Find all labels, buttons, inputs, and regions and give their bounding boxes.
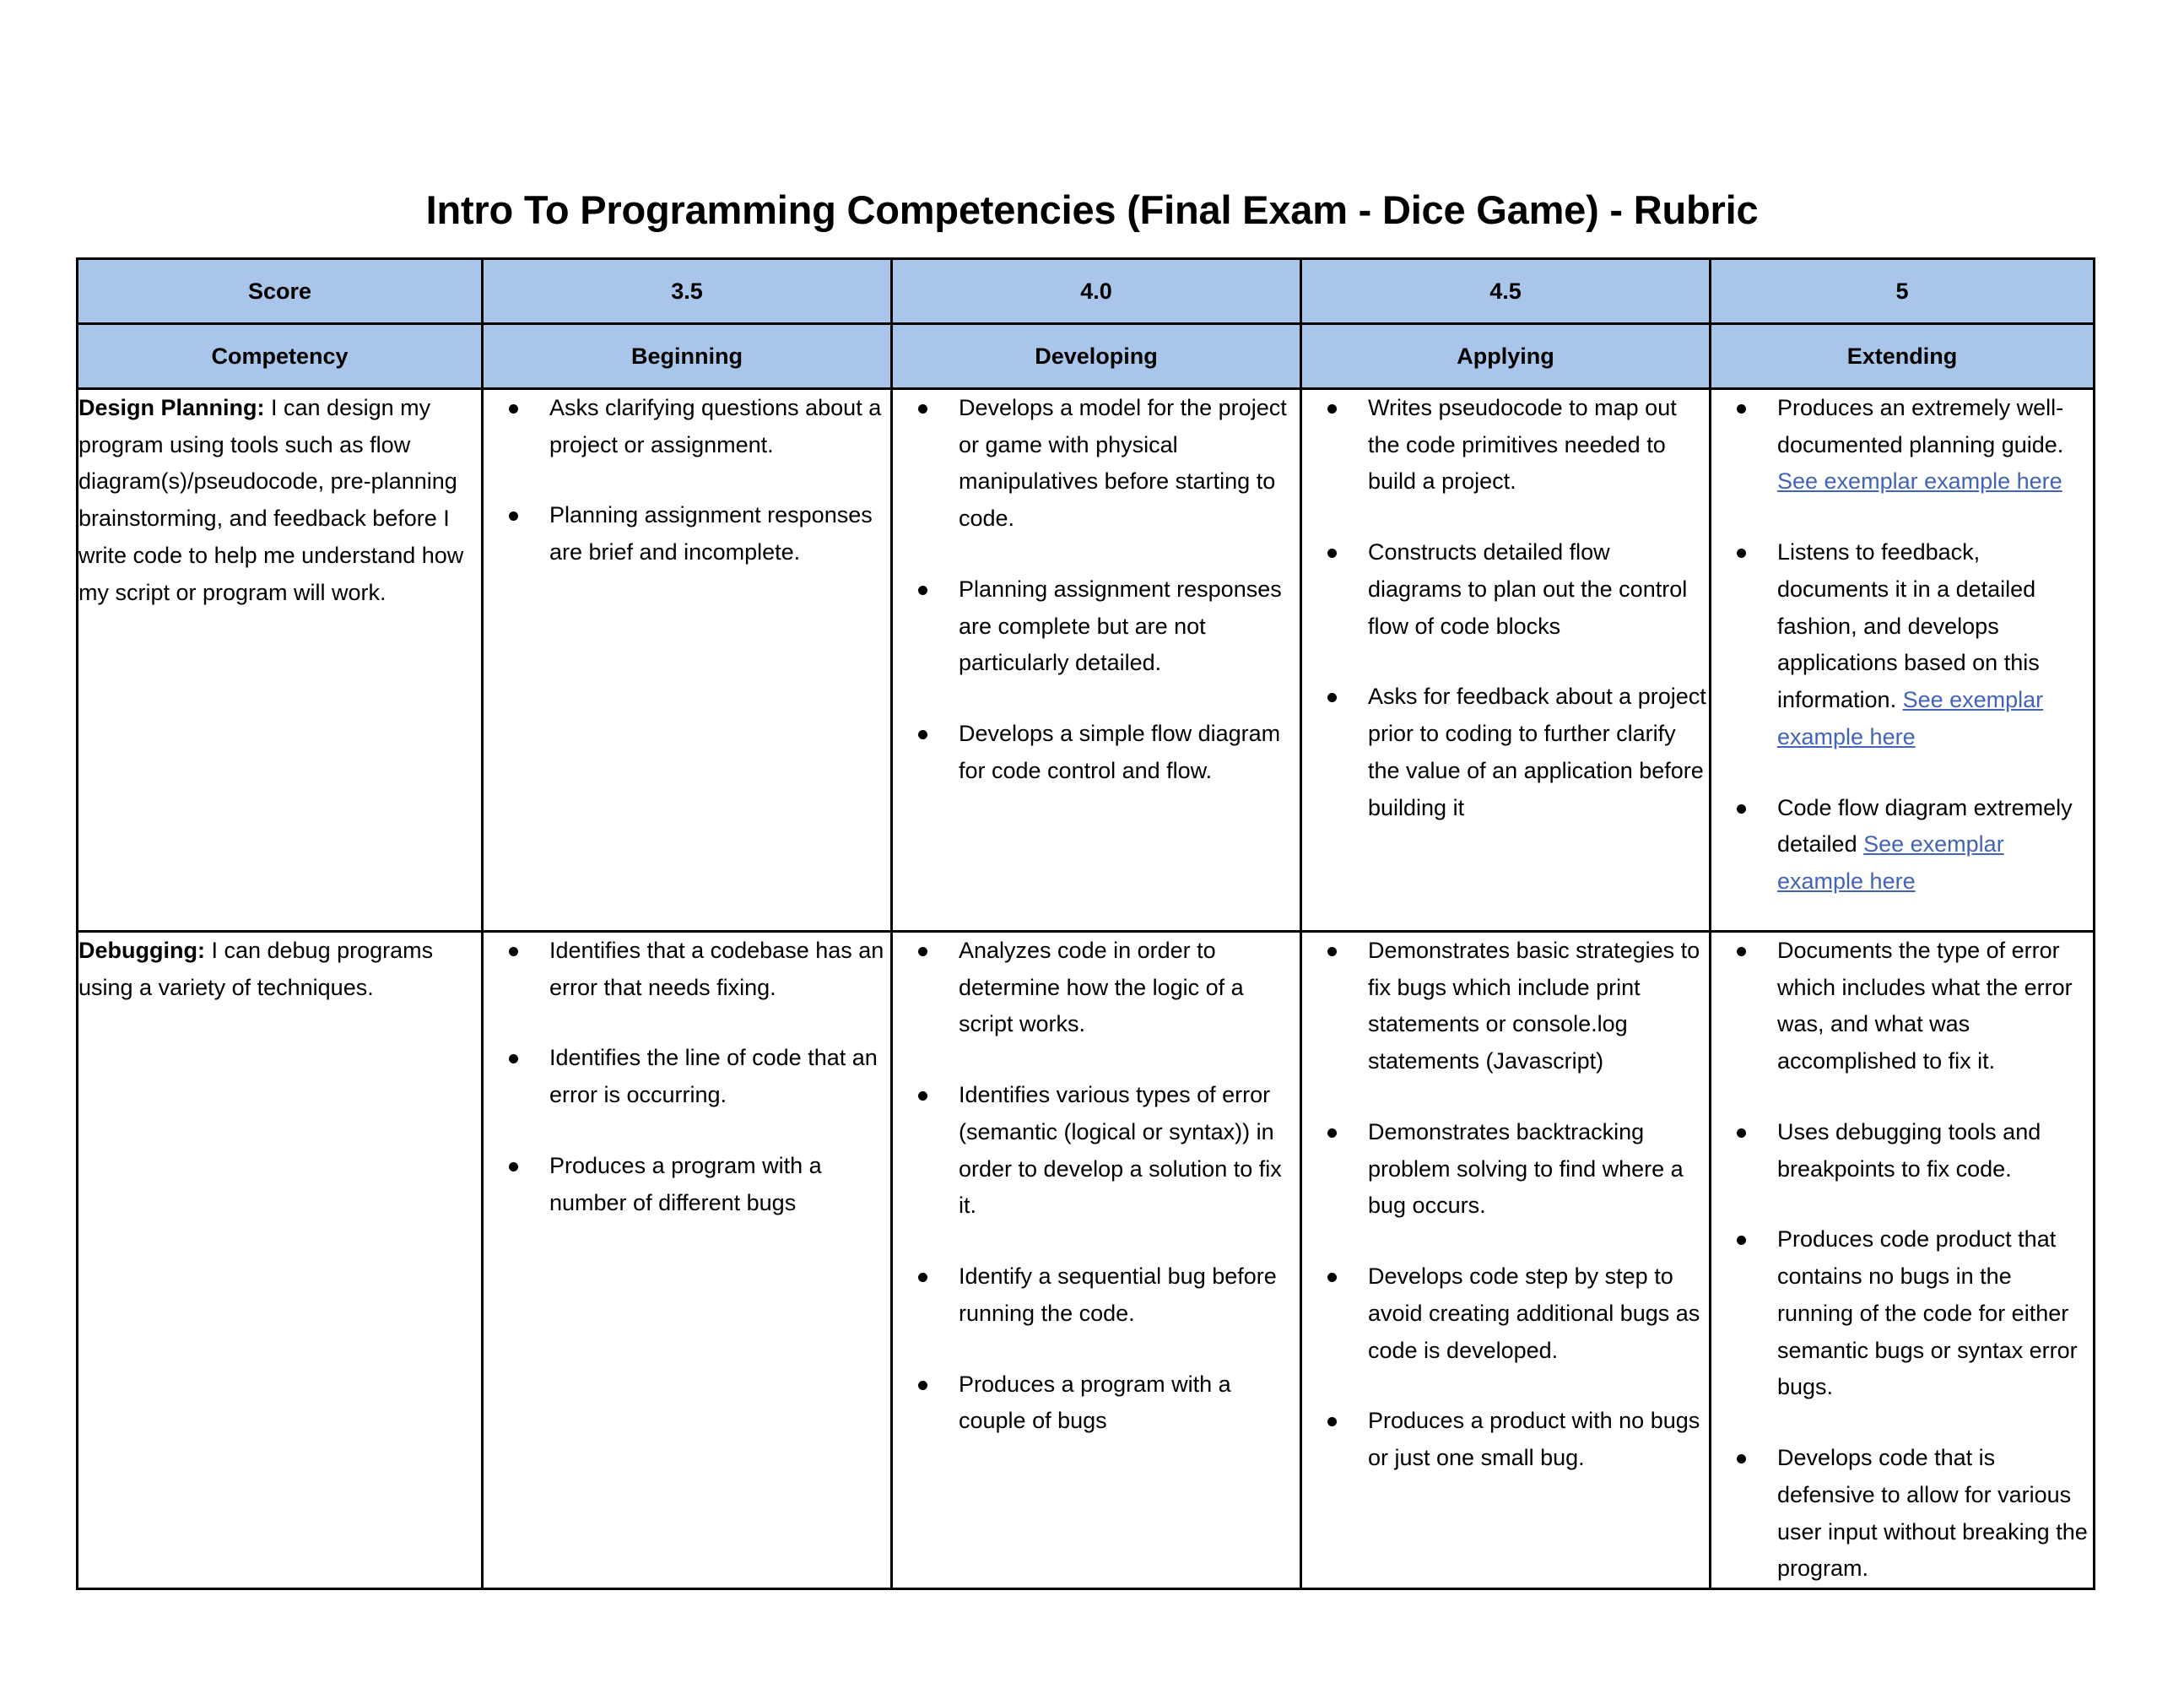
competency-name: Design Planning: — [78, 395, 265, 420]
criteria-text: Produces code product that contains no b… — [1777, 1226, 2078, 1399]
criteria-list: Produces an extremely well-documented pl… — [1711, 390, 2093, 901]
criteria-item: Listens to feedback, documents it in a d… — [1711, 534, 2093, 755]
criteria-item: Produces an extremely well-documented pl… — [1711, 390, 2093, 500]
competency-header-label: Competency — [78, 324, 483, 389]
competency-cell-debugging: Debugging: I can debug programs using a … — [78, 932, 483, 1589]
criteria-list: Develops a model for the project or game… — [893, 390, 1300, 790]
criteria-item: Identifies that a codebase has an error … — [484, 933, 890, 1006]
rubric-table-container: Score 3.5 4.0 4.5 5 Competency Beginning… — [76, 257, 2093, 1590]
criteria-item: Produces a program with a couple of bugs — [893, 1366, 1300, 1440]
competency-cell-design-planning: Design Planning: I can design my program… — [78, 389, 483, 932]
criteria-item: Code flow diagram extremely detailed See… — [1711, 790, 2093, 901]
level-cell-debug-applying: Demonstrates basic strategies to fix bug… — [1301, 932, 1711, 1589]
page-title: Intro To Programming Competencies (Final… — [0, 187, 2184, 233]
criteria-text: Asks for feedback about a project prior … — [1368, 684, 1706, 820]
criteria-text: Identifies the line of code that an erro… — [549, 1045, 878, 1107]
level-cell-design-beginning: Asks clarifying questions about a projec… — [483, 389, 892, 932]
criteria-text: Develops code that is defensive to allow… — [1777, 1445, 2088, 1581]
criteria-text: Demonstrates backtracking problem solvin… — [1368, 1119, 1684, 1218]
criteria-item: Uses debugging tools and breakpoints to … — [1711, 1114, 2093, 1188]
score-header-label: Score — [78, 259, 483, 324]
score-header-4-5: 4.5 — [1301, 259, 1711, 324]
exemplar-example-link[interactable]: See exemplar example here — [1777, 468, 2062, 494]
criteria-text: Produces an extremely well-documented pl… — [1777, 395, 2063, 457]
level-header-developing: Developing — [892, 324, 1301, 389]
score-header-row: Score 3.5 4.0 4.5 5 — [78, 259, 2095, 324]
competency-name: Debugging: — [78, 938, 205, 963]
competency-description: I can design my program using tools such… — [78, 395, 463, 605]
criteria-text: Uses debugging tools and breakpoints to … — [1777, 1119, 2041, 1182]
criteria-text: Identifies that a codebase has an error … — [549, 938, 884, 1000]
criteria-text: Analyzes code in order to determine how … — [959, 938, 1244, 1036]
criteria-item: Produces a product with no bugs or just … — [1302, 1403, 1709, 1476]
level-cell-debug-beginning: Identifies that a codebase has an error … — [483, 932, 892, 1589]
rubric-page: Intro To Programming Competencies (Final… — [0, 0, 2184, 1688]
criteria-text: Develops a simple flow diagram for code … — [959, 721, 1280, 783]
level-cell-design-applying: Writes pseudocode to map out the code pr… — [1301, 389, 1711, 932]
criteria-text: Planning assignment responses are comple… — [959, 576, 1282, 675]
table-row: Debugging: I can debug programs using a … — [78, 932, 2095, 1589]
criteria-text: Identify a sequential bug before running… — [959, 1263, 1277, 1326]
competency-header-row: Competency Beginning Developing Applying… — [78, 324, 2095, 389]
criteria-text: Constructs detailed flow diagrams to pla… — [1368, 539, 1687, 638]
level-header-beginning: Beginning — [483, 324, 892, 389]
level-cell-design-developing: Develops a model for the project or game… — [892, 389, 1301, 932]
criteria-item: Develops a model for the project or game… — [893, 390, 1300, 538]
criteria-list: Asks clarifying questions about a projec… — [484, 390, 890, 571]
level-header-applying: Applying — [1301, 324, 1711, 389]
level-cell-design-extending: Produces an extremely well-documented pl… — [1711, 389, 2095, 932]
criteria-item: Develops a simple flow diagram for code … — [893, 716, 1300, 789]
criteria-text: Planning assignment responses are brief … — [549, 502, 873, 565]
criteria-list: Analyzes code in order to determine how … — [893, 933, 1300, 1440]
table-row: Design Planning: I can design my program… — [78, 389, 2095, 932]
criteria-item: Asks clarifying questions about a projec… — [484, 390, 890, 463]
criteria-text: Identifies various types of error (seman… — [959, 1082, 1282, 1218]
score-header-5: 5 — [1711, 259, 2095, 324]
criteria-item: Develops code step by step to avoid crea… — [1302, 1258, 1709, 1369]
level-cell-debug-developing: Analyzes code in order to determine how … — [892, 932, 1301, 1589]
criteria-item: Produces code product that contains no b… — [1711, 1221, 2093, 1406]
criteria-list: Writes pseudocode to map out the code pr… — [1302, 390, 1709, 826]
criteria-text: Produces a program with a number of diff… — [549, 1153, 822, 1215]
criteria-item: Demonstrates backtracking problem solvin… — [1302, 1114, 1709, 1225]
score-header-3-5: 3.5 — [483, 259, 892, 324]
criteria-text: Develops a model for the project or game… — [959, 395, 1287, 531]
criteria-item: Identifies the line of code that an erro… — [484, 1040, 890, 1113]
criteria-text: Develops code step by step to avoid crea… — [1368, 1263, 1700, 1362]
criteria-list: Identifies that a codebase has an error … — [484, 933, 890, 1221]
criteria-item: Planning assignment responses are brief … — [484, 497, 890, 571]
criteria-item: Identifies various types of error (seman… — [893, 1077, 1300, 1225]
criteria-item: Constructs detailed flow diagrams to pla… — [1302, 534, 1709, 645]
level-header-extending: Extending — [1711, 324, 2095, 389]
criteria-item: Develops code that is defensive to allow… — [1711, 1440, 2093, 1588]
criteria-list: Demonstrates basic strategies to fix bug… — [1302, 933, 1709, 1477]
criteria-text: Writes pseudocode to map out the code pr… — [1368, 395, 1677, 494]
rubric-table: Score 3.5 4.0 4.5 5 Competency Beginning… — [76, 257, 2095, 1590]
criteria-item: Produces a program with a number of diff… — [484, 1148, 890, 1221]
criteria-list: Documents the type of error which includ… — [1711, 933, 2093, 1588]
criteria-item: Planning assignment responses are comple… — [893, 571, 1300, 682]
criteria-item: Documents the type of error which includ… — [1711, 933, 2093, 1080]
criteria-item: Identify a sequential bug before running… — [893, 1258, 1300, 1332]
criteria-text: Documents the type of error which includ… — [1777, 938, 2073, 1074]
criteria-text: Produces a product with no bugs or just … — [1368, 1408, 1700, 1470]
criteria-item: Asks for feedback about a project prior … — [1302, 679, 1709, 826]
score-header-4-0: 4.0 — [892, 259, 1301, 324]
criteria-item: Analyzes code in order to determine how … — [893, 933, 1300, 1043]
criteria-item: Writes pseudocode to map out the code pr… — [1302, 390, 1709, 500]
criteria-text: Asks clarifying questions about a projec… — [549, 395, 881, 457]
criteria-text: Demonstrates basic strategies to fix bug… — [1368, 938, 1700, 1074]
level-cell-debug-extending: Documents the type of error which includ… — [1711, 932, 2095, 1589]
criteria-item: Demonstrates basic strategies to fix bug… — [1302, 933, 1709, 1080]
criteria-text: Produces a program with a couple of bugs — [959, 1371, 1231, 1434]
